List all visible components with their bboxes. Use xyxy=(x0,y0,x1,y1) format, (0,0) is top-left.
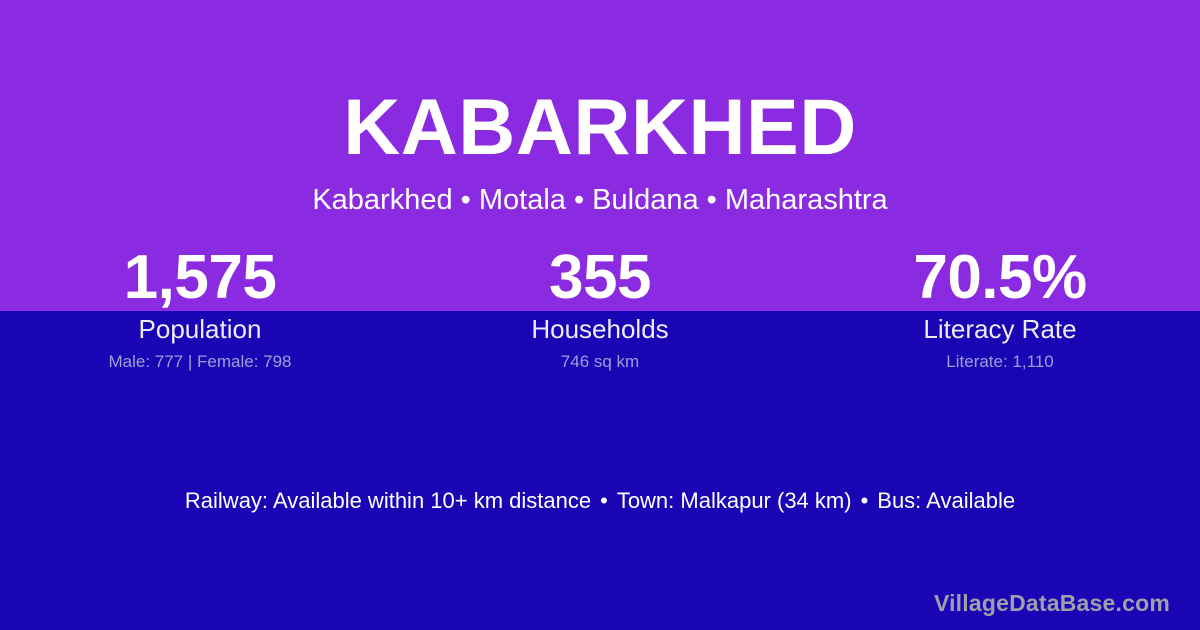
stat-label: Population xyxy=(0,313,400,345)
fact-town: Town: Malkapur (34 km) xyxy=(617,488,852,513)
stat-sublabel: Male: 777 | Female: 798 xyxy=(0,351,400,373)
stat-label: Households xyxy=(400,313,800,345)
fact-bus: Bus: Available xyxy=(877,488,1015,513)
stat-literacy-rate: 70.5% Literacy Rate Literate: 1,110 xyxy=(800,245,1200,373)
stat-households: 355 Households 746 sq km xyxy=(400,245,800,373)
stat-value: 355 xyxy=(400,245,800,311)
stat-sublabel: 746 sq km xyxy=(400,351,800,373)
stat-sublabel: Literate: 1,110 xyxy=(800,351,1200,373)
bullet-separator: • xyxy=(591,486,617,516)
card-content: KABARKHED Kabarkhed • Motala • Buldana •… xyxy=(0,0,1200,630)
fact-railway: Railway: Available within 10+ km distanc… xyxy=(185,488,591,513)
stat-label: Literacy Rate xyxy=(800,313,1200,345)
amenities-line: Railway: Available within 10+ km distanc… xyxy=(0,486,1200,516)
stats-row: 1,575 Population Male: 777 | Female: 798… xyxy=(0,245,1200,373)
village-info-card: KABARKHED Kabarkhed • Motala • Buldana •… xyxy=(0,0,1200,630)
stat-population: 1,575 Population Male: 777 | Female: 798 xyxy=(0,245,400,373)
site-brand-watermark: VillageDataBase.com xyxy=(934,588,1170,618)
bullet-separator: • xyxy=(852,486,878,516)
breadcrumb: Kabarkhed • Motala • Buldana • Maharasht… xyxy=(0,182,1200,218)
stat-value: 70.5% xyxy=(800,245,1200,311)
page-title: KABARKHED xyxy=(0,82,1200,172)
stat-value: 1,575 xyxy=(0,245,400,311)
